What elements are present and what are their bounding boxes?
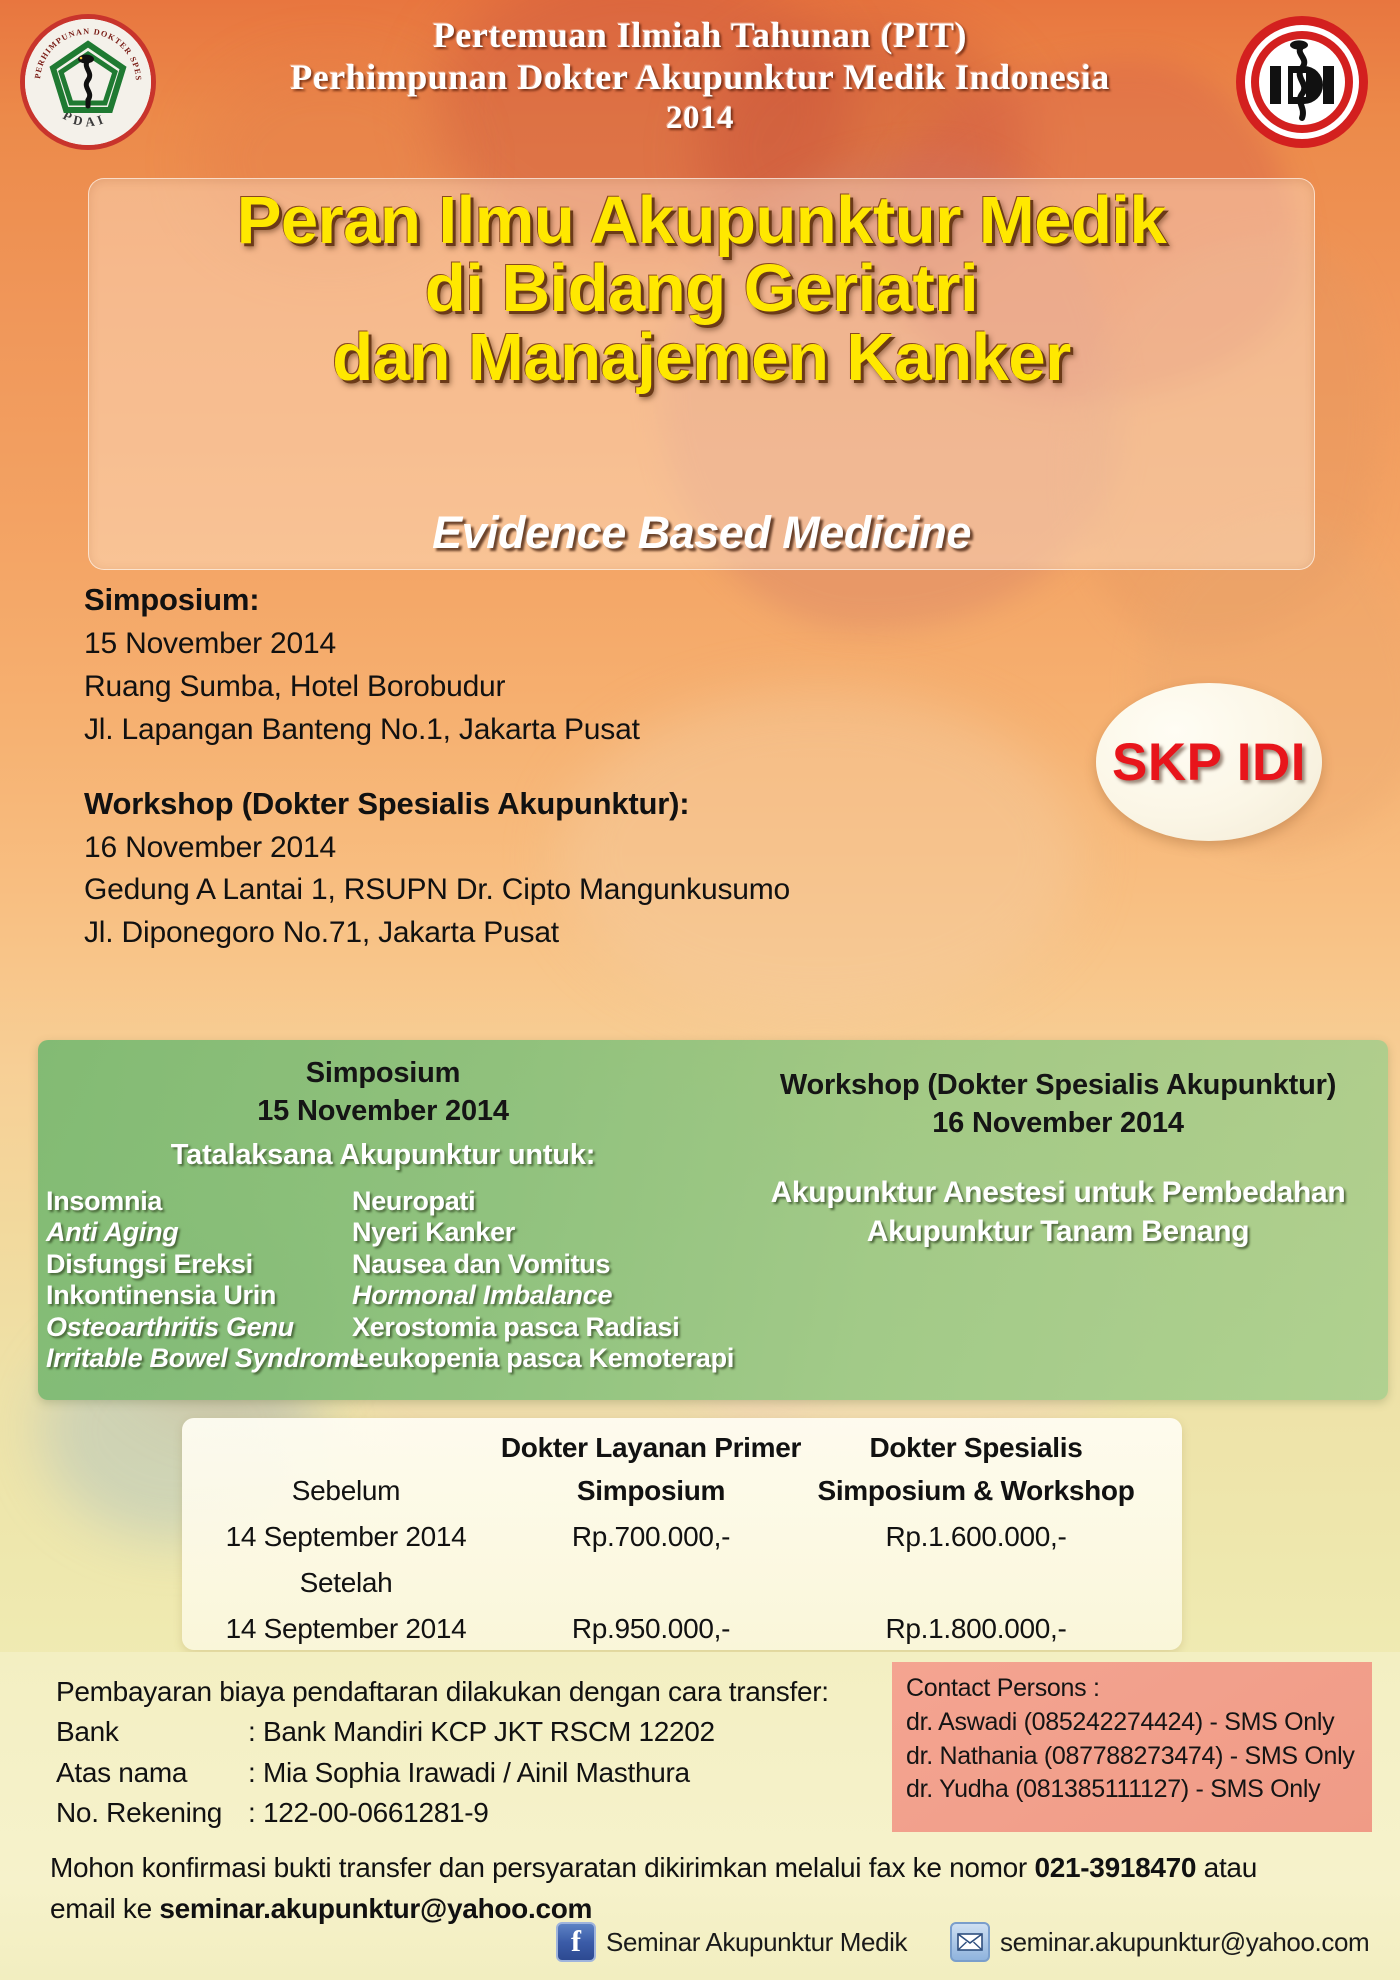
note-line-1-a: Mohon konfirmasi bukti transfer dan pers…	[50, 1852, 1034, 1883]
payment-row: Atas nama : Mia Sophia Irawadi / Ainil M…	[56, 1753, 876, 1793]
facebook-icon[interactable]: f	[556, 1922, 596, 1962]
note-line-1-c: atau	[1196, 1852, 1257, 1883]
topic-item: Irritable Bowel Syndrome	[46, 1343, 346, 1374]
program-workshop-date: 16 November 2014	[728, 1104, 1388, 1142]
program-simposium-date: 15 November 2014	[38, 1092, 728, 1130]
contact-persons-box: Contact Persons : dr. Aswadi (0852422744…	[892, 1662, 1372, 1832]
payment-row: Bank : Bank Mandiri KCP JKT RSCM 12202	[56, 1712, 876, 1752]
title-line-3: dan Manajemen Kanker	[89, 324, 1314, 392]
pricing-row2-label-top: Setelah	[196, 1567, 496, 1599]
email-link[interactable]: seminar.akupunktur@yahoo.com	[950, 1922, 1369, 1962]
topic-item: Osteoarthritis Genu	[46, 1312, 346, 1343]
topic-item: Anti Aging	[46, 1217, 346, 1248]
contact-item: dr. Yudha (081385111127) - SMS Only	[906, 1773, 1360, 1807]
topic-column-2: Neuropati Nyeri Kanker Nausea dan Vomitu…	[346, 1186, 652, 1375]
pricing-sub-header-0: Sebelum	[196, 1475, 496, 1507]
main-title: Peran Ilmu Akupunktur Medik di Bidang Ge…	[89, 187, 1314, 392]
simposium-address: Jl. Lapangan Banteng No.1, Jakarta Pusat	[84, 709, 944, 752]
pricing-row1-label: 14 September 2014	[196, 1521, 496, 1553]
workshop-item: Akupunktur Anestesi untuk Pembedahan	[728, 1173, 1388, 1212]
topic-item: Hormonal Imbalance	[352, 1280, 652, 1311]
pricing-row2-price2: Rp.1.800.000,-	[806, 1613, 1146, 1645]
workshop-venue: Gedung A Lantai 1, RSUPN Dr. Cipto Mangu…	[84, 869, 944, 912]
envelope-icon[interactable]	[950, 1922, 990, 1962]
title-line-1: Peran Ilmu Akupunktur Medik	[89, 187, 1314, 255]
pricing-sub-header-2: Simposium & Workshop	[806, 1475, 1146, 1507]
pdai-logo-graphic: PERHIMPUNAN DOKTER SPESIALIS AKUPUNKTUR …	[20, 14, 156, 150]
topic-item: Nyeri Kanker	[352, 1217, 652, 1248]
simposium-date: 15 November 2014	[84, 623, 944, 666]
title-line-2: di Bidang Geriatri	[89, 255, 1314, 323]
program-panel: Simposium 15 November 2014 Tatalaksana A…	[38, 1040, 1388, 1400]
skp-idi-badge: SKP IDI	[1096, 683, 1322, 841]
facebook-label: Seminar Akupunktur Medik	[606, 1927, 907, 1958]
social-footer: f Seminar Akupunktur Medik seminar.akupu…	[0, 1922, 1400, 1980]
topic-item: Insomnia	[46, 1186, 346, 1217]
pricing-sub-header-1: Simposium	[496, 1475, 806, 1507]
program-simposium-subtitle: Tatalaksana Akupunktur untuk:	[38, 1137, 728, 1175]
payment-intro: Pembayaran biaya pendaftaran dilakukan d…	[56, 1672, 876, 1712]
payment-row-value: : Bank Mandiri KCP JKT RSCM 12202	[248, 1712, 876, 1752]
envelope-icon-graphic	[957, 1933, 983, 1951]
contact-heading: Contact Persons :	[906, 1672, 1360, 1706]
payment-info: Pembayaran biaya pendaftaran dilakukan d…	[56, 1672, 876, 1833]
topic-item: Leukopenia pasca Kemoterapi	[352, 1343, 652, 1374]
note-line-2-a: email ke	[50, 1893, 159, 1924]
pricing-col-header-1: Dokter Layanan Primer	[496, 1432, 806, 1464]
program-simposium: Simposium 15 November 2014 Tatalaksana A…	[38, 1054, 728, 1174]
pricing-row1-price1: Rp.700.000,-	[496, 1521, 806, 1553]
workshop-item: Akupunktur Tanam Benang	[728, 1212, 1388, 1251]
workshop-address: Jl. Diponegoro No.71, Jakarta Pusat	[84, 912, 944, 955]
skp-idi-label: SKP IDI	[1112, 732, 1306, 793]
poster-header: PERHIMPUNAN DOKTER SPESIALIS AKUPUNKTUR …	[0, 0, 1400, 180]
topic-column-1: Insomnia Anti Aging Disfungsi Ereksi Ink…	[38, 1186, 346, 1375]
program-workshop-title: Workshop (Dokter Spesialis Akupunktur)	[728, 1066, 1388, 1104]
idi-logo	[1236, 16, 1368, 148]
poster-root: PERHIMPUNAN DOKTER SPESIALIS AKUPUNKTUR …	[0, 0, 1400, 1980]
payment-row: No. Rekening : 122-00-0661281-9	[56, 1793, 876, 1833]
simposium-venue: Ruang Sumba, Hotel Borobudur	[84, 666, 944, 709]
pdai-logo: PERHIMPUNAN DOKTER SPESIALIS AKUPUNKTUR …	[20, 14, 156, 150]
topic-item: Neuropati	[352, 1186, 652, 1217]
pricing-row2-label: 14 September 2014	[196, 1613, 496, 1645]
program-workshop: Workshop (Dokter Spesialis Akupunktur) 1…	[728, 1066, 1388, 1251]
topic-item: Inkontinensia Urin	[46, 1280, 346, 1311]
pricing-row2-price1: Rp.950.000,-	[496, 1613, 806, 1645]
payment-row-key: Atas nama	[56, 1753, 248, 1793]
workshop-date: 16 November 2014	[84, 827, 944, 870]
payment-row-key: Bank	[56, 1712, 248, 1752]
note-email: seminar.akupunktur@yahoo.com	[159, 1893, 592, 1924]
topic-item: Xerostomia pasca Radiasi	[352, 1312, 652, 1343]
header-line-2: Perhimpunan Dokter Akupunktur Medik Indo…	[170, 56, 1230, 98]
pricing-table: Dokter Layanan Primer Dokter Spesialis S…	[182, 1418, 1182, 1650]
pricing-col-header-2: Dokter Spesialis	[806, 1432, 1146, 1464]
note-line-1: Mohon konfirmasi bukti transfer dan pers…	[50, 1848, 1370, 1889]
idi-logo-graphic	[1236, 16, 1368, 148]
event-info-block: Simposium: 15 November 2014 Ruang Sumba,…	[84, 578, 944, 955]
topic-item: Disfungsi Ereksi	[46, 1249, 346, 1280]
email-label: seminar.akupunktur@yahoo.com	[1000, 1927, 1369, 1958]
contact-item: dr. Aswadi (085242274424) - SMS Only	[906, 1706, 1360, 1740]
payment-row-key: No. Rekening	[56, 1793, 248, 1833]
header-line-3: 2014	[170, 99, 1230, 138]
payment-row-value: : Mia Sophia Irawadi / Ainil Masthura	[248, 1753, 876, 1793]
facebook-link[interactable]: f Seminar Akupunktur Medik	[556, 1922, 907, 1962]
program-simposium-title: Simposium	[38, 1054, 728, 1092]
header-title-block: Pertemuan Ilmiah Tahunan (PIT) Perhimpun…	[170, 14, 1230, 138]
simposium-heading: Simposium:	[84, 578, 944, 623]
workshop-item-list: Akupunktur Anestesi untuk Pembedahan Aku…	[728, 1173, 1388, 1251]
fax-number: 021-3918470	[1034, 1852, 1196, 1883]
contact-item: dr. Nathania (087788273474) - SMS Only	[906, 1740, 1360, 1774]
pricing-row1-price2: Rp.1.600.000,-	[806, 1521, 1146, 1553]
payment-row-value: : 122-00-0661281-9	[248, 1793, 876, 1833]
workshop-heading: Workshop (Dokter Spesialis Akupunktur):	[84, 782, 944, 827]
title-panel: Peran Ilmu Akupunktur Medik di Bidang Ge…	[88, 178, 1315, 570]
topic-columns: Insomnia Anti Aging Disfungsi Ereksi Ink…	[38, 1186, 728, 1375]
header-line-1: Pertemuan Ilmiah Tahunan (PIT)	[170, 14, 1230, 56]
title-subtitle: Evidence Based Medicine	[89, 507, 1314, 559]
topic-item: Nausea dan Vomitus	[352, 1249, 652, 1280]
confirmation-note: Mohon konfirmasi bukti transfer dan pers…	[50, 1848, 1370, 1929]
